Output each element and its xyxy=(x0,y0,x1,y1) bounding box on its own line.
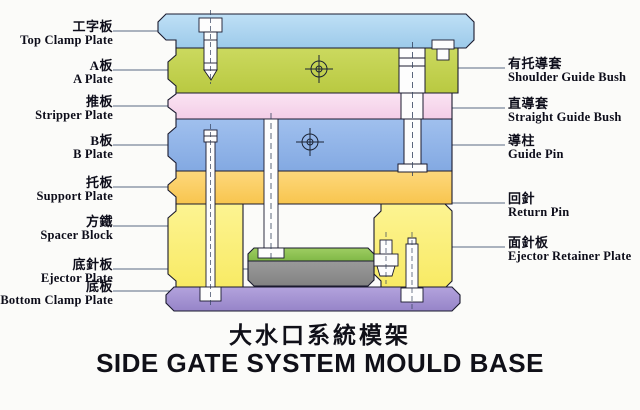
label-en: Support Plate xyxy=(0,190,113,204)
label-cn: 底板 xyxy=(0,280,113,294)
label-a-plate: A板 A Plate xyxy=(0,59,113,87)
figure-title-english: SIDE GATE SYSTEM MOULD BASE xyxy=(0,348,640,379)
label-straight-guide-bush: 直導套 Straight Guide Bush xyxy=(508,97,622,125)
label-cn: 有托導套 xyxy=(508,57,626,71)
label-guide-pin: 導柱 Guide Pin xyxy=(508,134,564,162)
label-cn: 面針板 xyxy=(508,236,631,250)
label-cn: 導柱 xyxy=(508,134,564,148)
figure-title-chinese: 大水口系統模架 xyxy=(0,316,640,350)
shoulder-guide-bush xyxy=(399,48,425,93)
label-spacer-block: 方鐵 Spacer Block xyxy=(0,215,113,243)
label-cn: 方鐵 xyxy=(0,215,113,229)
label-top-clamp-plate: 工字板 Top Clamp Plate xyxy=(0,20,113,48)
label-cn: B板 xyxy=(0,134,113,148)
label-cn: 推板 xyxy=(0,95,113,109)
label-b-plate: B板 B Plate xyxy=(0,134,113,162)
label-en: Return Pin xyxy=(508,206,569,220)
label-en: Guide Pin xyxy=(508,148,564,162)
label-cn: 工字板 xyxy=(0,20,113,34)
label-en: A Plate xyxy=(0,73,113,87)
label-en: Top Clamp Plate xyxy=(0,34,113,48)
label-en: Stripper Plate xyxy=(0,109,113,123)
plate-ejector-retainer-plate xyxy=(248,261,374,286)
label-cn: 直導套 xyxy=(508,97,622,111)
label-cn: 托板 xyxy=(0,176,113,190)
label-stripper-plate: 推板 Stripper Plate xyxy=(0,95,113,123)
label-shoulder-guide-bush: 有托導套 Shoulder Guide Bush xyxy=(508,57,626,85)
label-en: Shoulder Guide Bush xyxy=(508,71,626,85)
label-ejector-retainer-plate: 面針板 Ejector Retainer Plate xyxy=(508,236,631,264)
label-en: B Plate xyxy=(0,148,113,162)
label-en: Ejector Retainer Plate xyxy=(508,250,631,264)
label-en: Bottom Clamp Plate xyxy=(0,294,113,308)
label-bottom-clamp-plate: 底板 Bottom Clamp Plate xyxy=(0,280,113,308)
label-en: Straight Guide Bush xyxy=(508,111,622,125)
label-cn: 底針板 xyxy=(0,258,113,272)
plate-spacer-block xyxy=(168,204,243,288)
label-cn: 回針 xyxy=(508,192,569,206)
label-cn: A板 xyxy=(0,59,113,73)
label-en: Spacer Block xyxy=(0,229,113,243)
label-support-plate: 托板 Support Plate xyxy=(0,176,113,204)
label-return-pin: 回針 Return Pin xyxy=(508,192,569,220)
straight-guide-bush xyxy=(401,93,423,119)
